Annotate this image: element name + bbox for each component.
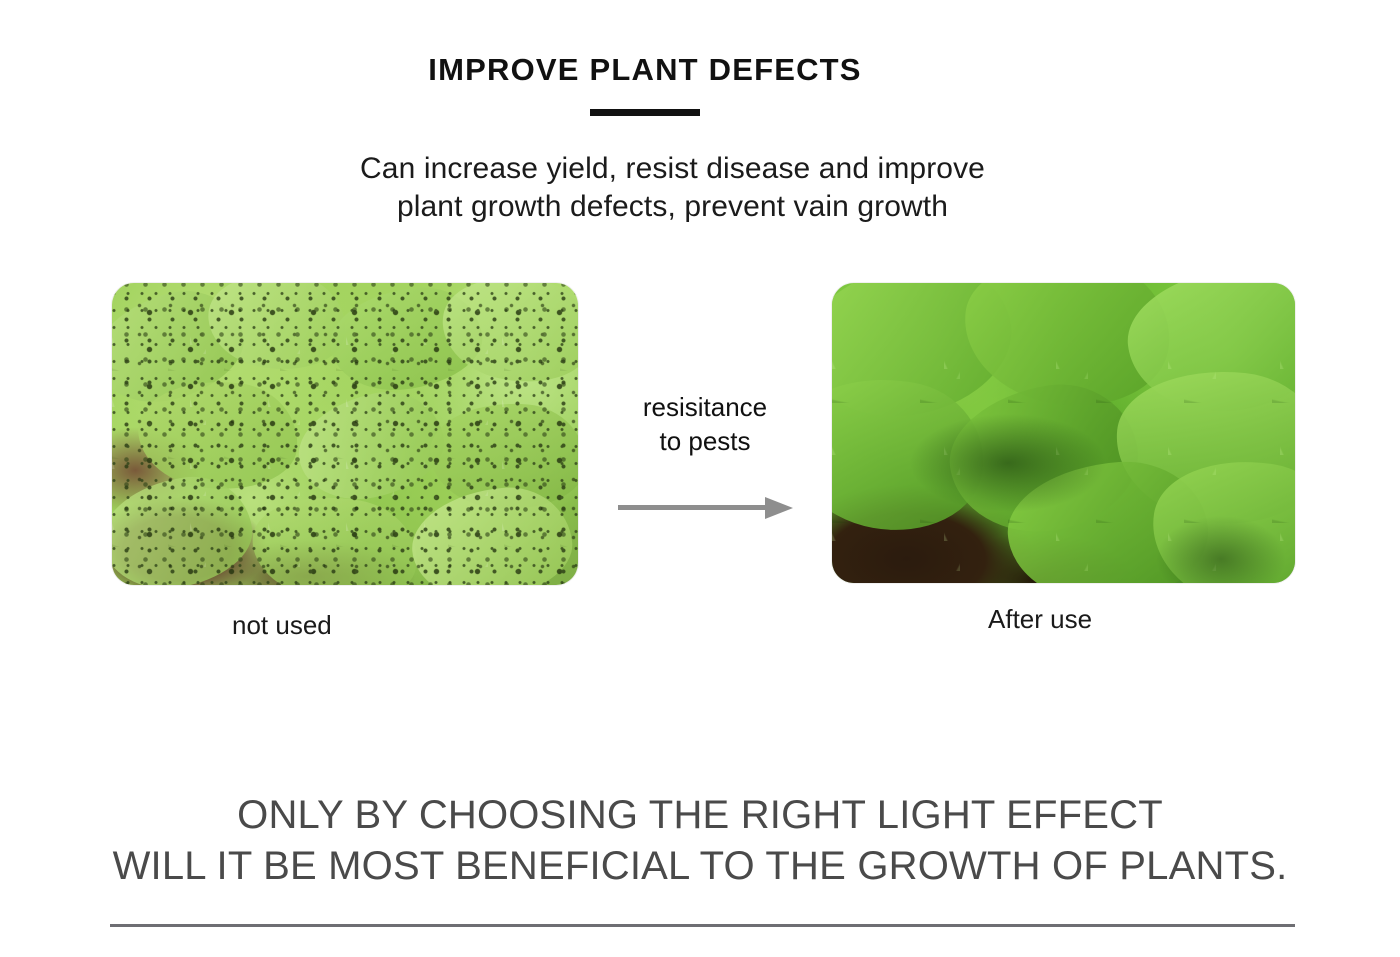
page-title: IMPROVE PLANT DEFECTS — [0, 54, 1290, 85]
footer-divider — [110, 924, 1295, 927]
transition-block: resisitance to pests — [600, 390, 810, 519]
arrow-head — [765, 497, 793, 519]
after-photo — [832, 283, 1295, 583]
infographic-page: IMPROVE PLANT DEFECTS Can increase yield… — [0, 0, 1400, 957]
subtitle-line-2: plant growth defects, prevent vain growt… — [0, 188, 1345, 226]
transition-label-line-1: resisitance — [600, 390, 810, 424]
before-photo-caption: not used — [232, 610, 332, 641]
tagline-line-2: WILL IT BE MOST BENEFICIAL TO THE GROWTH… — [0, 841, 1400, 892]
footer-tagline: ONLY BY CHOOSING THE RIGHT LIGHT EFFECT … — [0, 790, 1400, 892]
after-photo-shadow-overlay — [832, 283, 1295, 583]
header-section: IMPROVE PLANT DEFECTS — [0, 54, 1290, 116]
header-subtitle: Can increase yield, resist disease and i… — [0, 150, 1345, 227]
after-photo-caption: After use — [988, 604, 1092, 635]
arrow-shaft — [618, 505, 770, 510]
subtitle-line-1: Can increase yield, resist disease and i… — [0, 150, 1345, 188]
before-photo — [112, 283, 578, 585]
tagline-line-1: ONLY BY CHOOSING THE RIGHT LIGHT EFFECT — [0, 790, 1400, 841]
arrow-right-icon — [618, 497, 793, 519]
transition-label-line-2: to pests — [600, 424, 810, 458]
title-underline-rule — [590, 109, 700, 116]
pest-hole-texture-secondary — [112, 283, 578, 585]
transition-label: resisitance to pests — [600, 390, 810, 459]
